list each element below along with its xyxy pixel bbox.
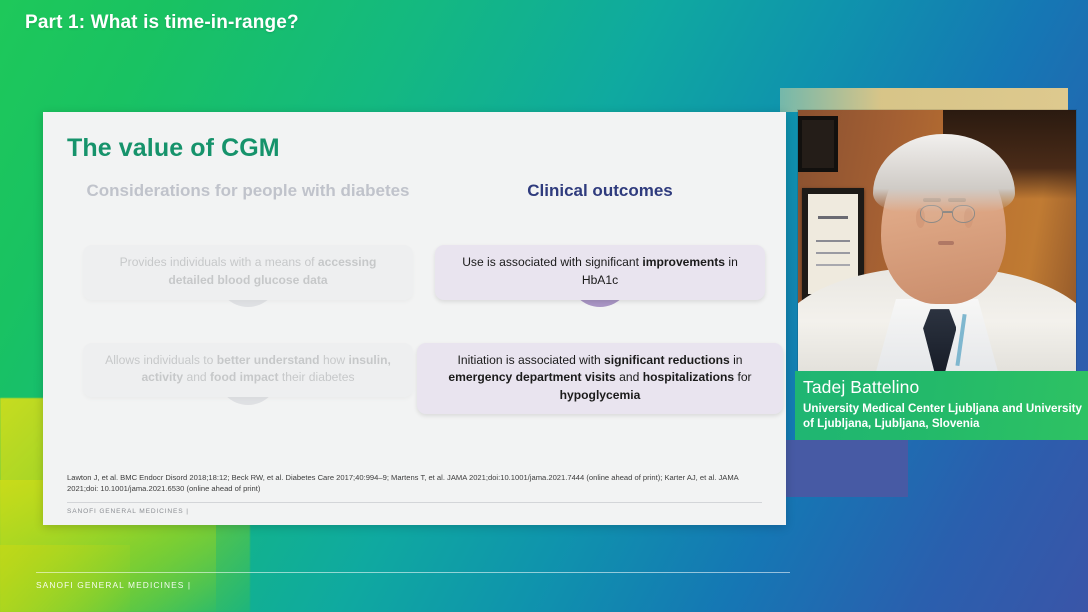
column-heading: Clinical outcomes [435,180,765,202]
page-footer-brand: SANOFI GENERAL MEDICINES | [36,580,790,590]
webinar-screen: Part 1: What is time-in-range? The value… [0,0,1088,612]
text-part: Use is associated with significant [462,255,642,269]
background-accent-indigo [786,440,908,497]
text-part-bold: improvements [642,255,725,269]
wall-picture-frame-secondary [798,116,838,172]
slide-point: Provides individuals with a means of acc… [83,245,413,299]
page-footer: SANOFI GENERAL MEDICINES | [36,572,790,590]
text-part: and [616,370,643,384]
text-part: in [730,353,743,367]
slide-column-clinical-outcomes: Clinical outcomes Use is associated with… [435,180,765,414]
text-part-bold: better understand [217,353,320,367]
video-tile-participant[interactable] [798,110,1076,372]
text-part: for [734,370,751,384]
slide-point-text: Provides individuals with a means of acc… [83,245,413,299]
participant-nameplate: Tadej Battelino University Medical Cente… [795,371,1088,440]
page-footer-divider [36,572,790,573]
page-title: Part 1: What is time-in-range? [25,12,299,34]
slide-footer: Lawton J, et al. BMC Endocr Disord 2018;… [67,473,762,515]
column-heading: Considerations for people with diabetes [83,180,413,202]
slide-point-text: Use is associated with significant impro… [435,245,765,299]
text-part: Initiation is associated with [458,353,605,367]
slide-point-text: Initiation is associated with significan… [417,343,783,415]
participant-name: Tadej Battelino [803,377,1088,399]
text-part-bold: food impact [210,370,279,384]
slide-point: Initiation is associated with significan… [435,343,765,415]
text-part-bold: hypoglycemia [560,388,641,402]
text-part-bold: significant reductions [604,353,730,367]
text-part: their diabetes [279,370,355,384]
slide-footer-divider [67,502,762,503]
slide-title: The value of CGM [67,134,280,163]
text-part: how [320,353,349,367]
participant-affiliation: University Medical Center Ljubljana and … [803,401,1088,432]
slide-footer-brand: SANOFI GENERAL MEDICINES | [67,508,762,515]
slide-panel: The value of CGM Considerations for peop… [43,112,786,525]
background-accent-tan [780,88,1068,112]
text-part: Allows individuals to [105,353,217,367]
slide-point: Allows individuals to better understand … [83,343,413,397]
citation-text: Lawton J, et al. BMC Endocr Disord 2018;… [67,473,762,495]
text-part: and [183,370,210,384]
text-part-bold: emergency department visits [448,370,615,384]
slide-column-considerations: Considerations for people with diabetes … [83,180,413,397]
slide-point: Use is associated with significant impro… [435,245,765,299]
slide-point-text: Allows individuals to better understand … [83,343,413,397]
text-part: Provides individuals with a means of [120,255,318,269]
text-part-bold: hospitalizations [643,370,734,384]
participant-mouth [938,241,954,245]
